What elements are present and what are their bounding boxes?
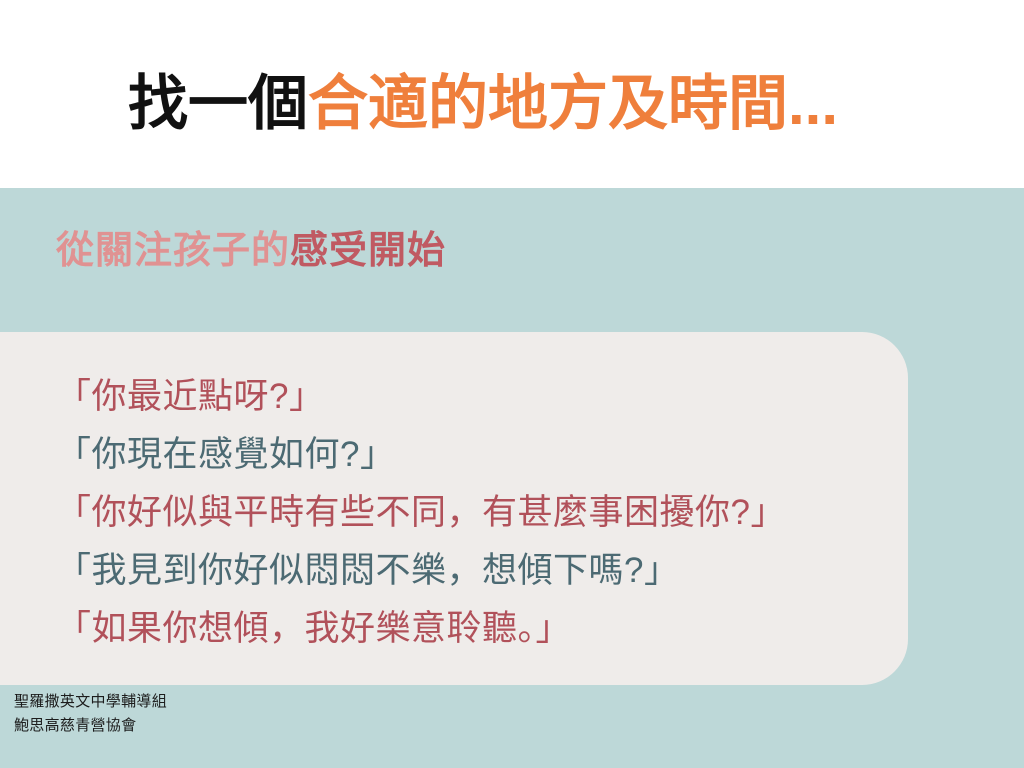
quote-line-5: 「如果你想傾，我好樂意聆聽。」 xyxy=(56,600,876,658)
quote-line-3: 「你好似與平時有些不同，有甚麼事困擾你?」 xyxy=(56,484,876,542)
section-heading: 從關注孩子的感受開始 xyxy=(56,231,446,273)
quote-line-4: 「我見到你好似悶悶不樂，想傾下嗎?」 xyxy=(56,542,876,600)
section-heading-segment-light: 從關注孩子的 xyxy=(56,230,290,272)
quote-line-1: 「你最近點呀?」 xyxy=(56,368,876,426)
quote-list: 「你最近點呀?」 「你現在感覺如何?」 「你好似與平時有些不同，有甚麼事困擾你?… xyxy=(56,368,876,658)
footer-line-organization: 鮑思高慈青營協會 xyxy=(14,714,167,738)
slide-title: 找一個合適的地方及時間... xyxy=(128,74,838,134)
quote-card: 「你最近點呀?」 「你現在感覺如何?」 「你好似與平時有些不同，有甚麼事困擾你?… xyxy=(0,332,908,685)
presentation-slide: 找一個合適的地方及時間... 從關注孩子的感受開始 「你最近點呀?」 「你現在感… xyxy=(0,0,1024,768)
title-band: 找一個合適的地方及時間... xyxy=(0,0,1024,188)
section-heading-segment-strong: 感受開始 xyxy=(290,230,446,272)
slide-title-segment-orange: 合適的地方及時間... xyxy=(308,70,838,137)
slide-title-segment-black: 找一個 xyxy=(128,70,308,137)
footer-credits: 聖羅撒英文中學輔導組 鮑思高慈青營協會 xyxy=(14,690,167,738)
quote-line-2: 「你現在感覺如何?」 xyxy=(56,426,876,484)
footer-line-school: 聖羅撒英文中學輔導組 xyxy=(14,690,167,714)
